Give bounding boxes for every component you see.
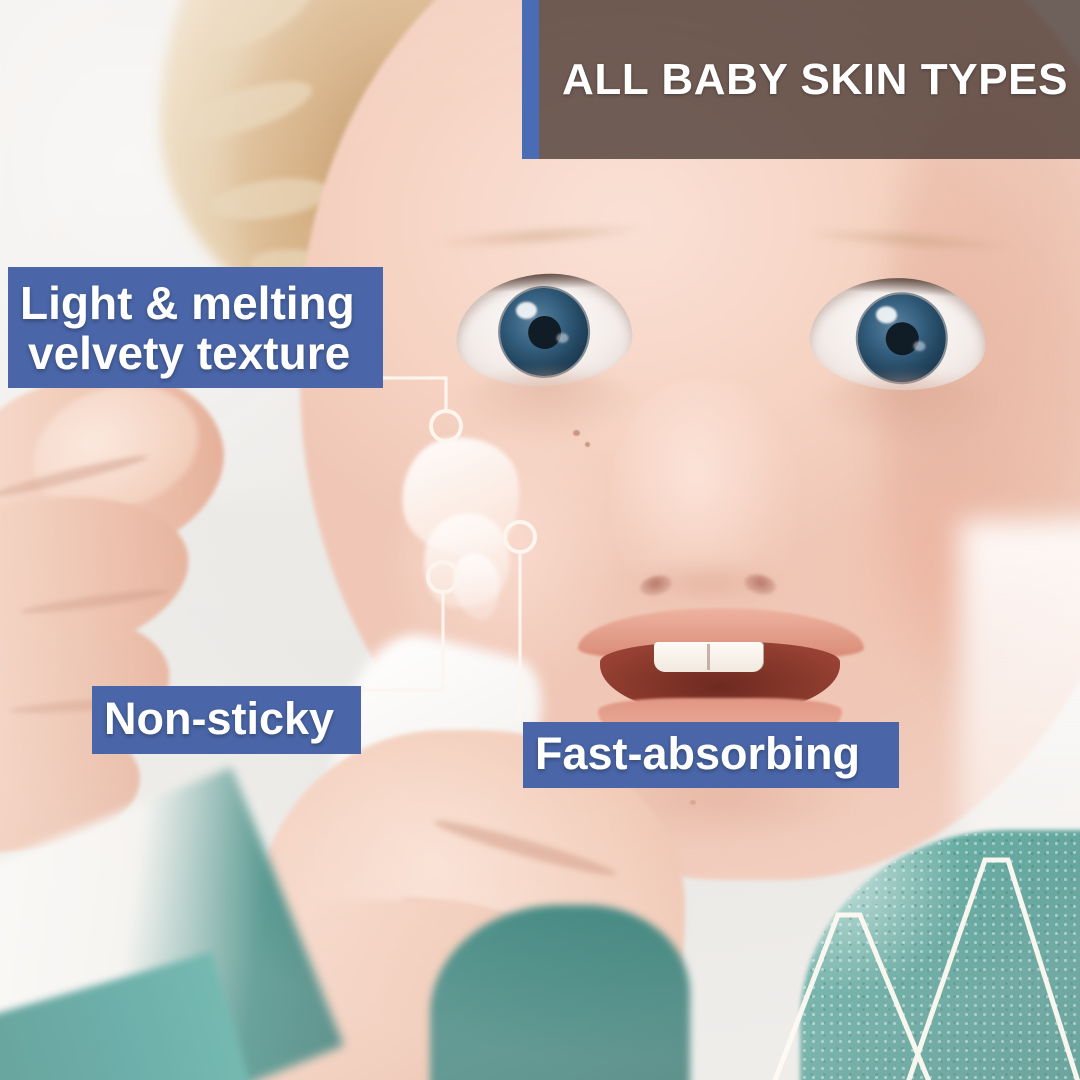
callout-light-melting-line1: Light & melting [20,277,355,329]
callout-light-melting-line2: velvety texture [28,329,371,379]
callout-light-melting: Light & melting velvety texture [8,267,383,388]
skin-freckle [690,800,696,805]
callout-non-sticky: Non-sticky [92,686,361,754]
cream-smear [398,437,528,612]
right-pupil [885,321,920,356]
callout-fast-absorbing-text: Fast-absorbing [535,728,860,779]
left-eye-glint-secondary [556,333,569,344]
right-eye-glint-secondary [913,341,926,352]
callout-fast-absorbing: Fast-absorbing [523,722,899,788]
header-banner: ALL BABY SKIN TYPES [522,0,1080,159]
header-accent-bar [522,0,539,159]
left-pupil [527,315,562,350]
right-iris [856,292,948,384]
infographic-canvas: ALL BABY SKIN TYPES Light & melting velv… [0,0,1080,1080]
front-teeth [654,642,764,672]
right-eye-glint [876,306,898,324]
skin-freckle [585,442,590,447]
left-under-eye [452,372,642,442]
right-under-eye [810,376,1000,446]
callout-non-sticky-text: Non-sticky [104,693,334,744]
skin-freckle [573,430,580,436]
left-iris [498,286,590,378]
header-title: ALL BABY SKIN TYPES [562,55,1068,105]
left-eye-glint [516,301,538,319]
background-photo [0,0,1080,1080]
